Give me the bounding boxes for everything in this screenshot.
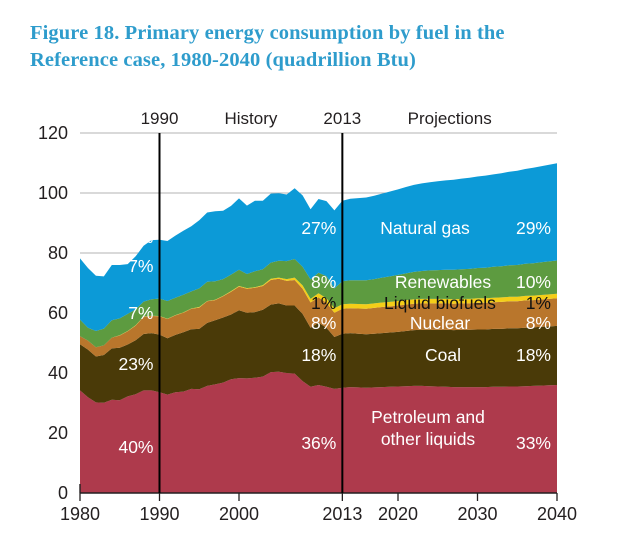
percent-label: 10%	[516, 272, 551, 292]
chart-container: 020406080100120 198019902000201320202030…	[0, 108, 623, 553]
series-name-label: Natural gas	[380, 218, 470, 238]
percent-label: 7%	[128, 303, 153, 323]
series-name-label: Petroleum and	[371, 407, 485, 427]
x-axis-tick-label: 2040	[537, 504, 577, 524]
x-axis-tick-label: 2020	[378, 504, 418, 524]
percent-label: 1%	[526, 293, 551, 313]
projections-label: Projections	[408, 109, 492, 128]
x-axis-tick-label: 2000	[219, 504, 259, 524]
percent-label: 1%	[311, 293, 336, 313]
x-axis-tick-label: 1990	[139, 504, 179, 524]
y-axis-tick-label: 20	[48, 423, 68, 443]
percent-label: 8%	[526, 313, 551, 333]
series-name-label: Coal	[425, 345, 461, 365]
y-axis-tick-label: 100	[38, 183, 68, 203]
y-axis-tick-label: 0	[58, 483, 68, 503]
percent-label: 36%	[301, 433, 336, 453]
percent-label: 27%	[301, 218, 336, 238]
percent-label: 18%	[516, 345, 551, 365]
percent-label: 8%	[311, 313, 336, 333]
percent-label: 23%	[118, 227, 153, 247]
history-label: History	[224, 109, 277, 128]
tick-group	[80, 493, 557, 501]
divider-year-2013: 2013	[323, 109, 361, 128]
percent-label: 7%	[128, 256, 153, 276]
series-name-label: Liquid biofuels	[384, 293, 496, 313]
y-axis-labels: 020406080100120	[38, 123, 68, 503]
x-axis-labels: 1980199020002013202020302040	[60, 504, 577, 524]
x-axis-tick-label: 2030	[457, 504, 497, 524]
era-annotations: 19902013HistoryProjections	[141, 109, 492, 128]
percent-label: 29%	[516, 218, 551, 238]
y-axis-tick-label: 120	[38, 123, 68, 143]
y-axis-tick-label: 60	[48, 303, 68, 323]
y-axis-tick-label: 40	[48, 363, 68, 383]
series-name-label: other liquids	[381, 429, 476, 449]
figure-title-line-2: Reference case, 1980-2040 (quadrillion B…	[30, 47, 600, 74]
x-axis-tick-label: 1980	[60, 504, 100, 524]
percent-label: 8%	[311, 272, 336, 292]
figure-title-line-1: Figure 18. Primary energy consumption by…	[30, 20, 600, 47]
y-axis-tick-label: 80	[48, 243, 68, 263]
percent-label: 18%	[301, 345, 336, 365]
percent-label: 23%	[118, 354, 153, 374]
series-name-label: Nuclear	[410, 313, 470, 333]
percent-label: 33%	[516, 433, 551, 453]
x-axis-tick-label: 2013	[322, 504, 362, 524]
percent-label: 40%	[118, 437, 153, 457]
stacked-area-chart: 020406080100120 198019902000201320202030…	[0, 108, 623, 553]
figure-title: Figure 18. Primary energy consumption by…	[30, 20, 600, 74]
divider-year-1990: 1990	[141, 109, 179, 128]
series-name-label: Renewables	[395, 272, 492, 292]
